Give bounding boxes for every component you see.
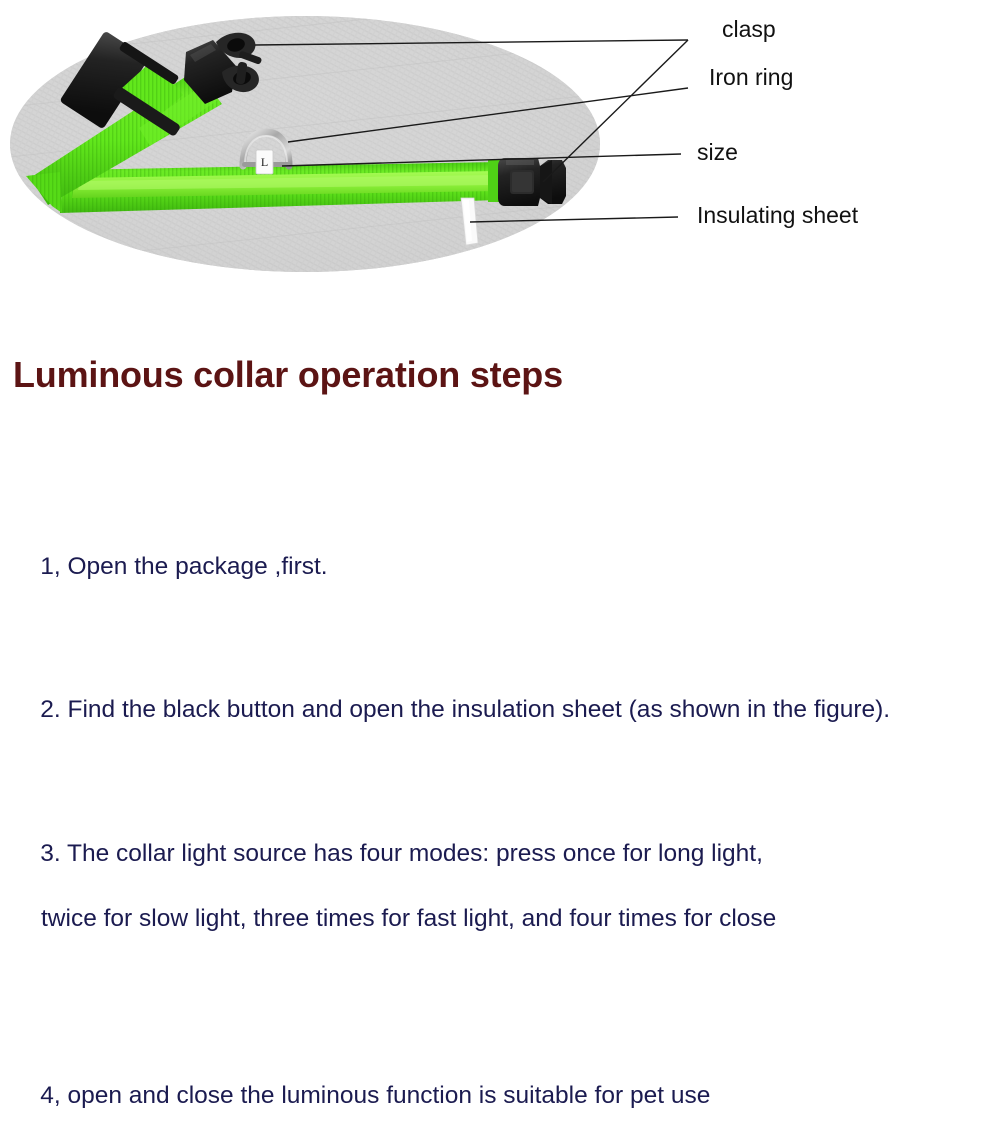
- operation-step-3: 3. The collar light source has four mode…: [13, 805, 973, 1000]
- collar-photo-illustration: L: [0, 0, 1000, 310]
- callout-label-iron-ring: Iron ring: [709, 66, 793, 89]
- buckle-right: [488, 158, 566, 206]
- section-heading: Luminous collar operation steps: [13, 354, 563, 395]
- callout-label-insulating-sheet: Insulating sheet: [697, 204, 858, 227]
- product-photo-panel: L: [0, 0, 1000, 310]
- operation-steps-list: 1, Open the package ,first. 2. Find the …: [13, 518, 973, 1145]
- size-tag-text: L: [261, 155, 268, 169]
- step-4-line-1: 4, open and close the luminous function …: [40, 1082, 710, 1109]
- callout-label-size: size: [697, 141, 738, 164]
- step-3-line-1: 3. The collar light source has four mode…: [40, 840, 763, 867]
- callout-label-clasp: clasp: [722, 18, 776, 41]
- step-3-line-2: twice for slow light, three times for fa…: [13, 903, 973, 936]
- operation-step-4: 4, open and close the luminous function …: [13, 1047, 973, 1145]
- operation-step-2: 2. Find the black button and open the in…: [13, 662, 973, 760]
- size-tag: L: [256, 150, 273, 174]
- step-2-line-1: 2. Find the black button and open the in…: [40, 696, 890, 723]
- step-1-line-1: 1, Open the package ,first.: [40, 553, 327, 580]
- operation-step-1: 1, Open the package ,first.: [13, 518, 973, 616]
- collar-strap-fold: [26, 172, 62, 213]
